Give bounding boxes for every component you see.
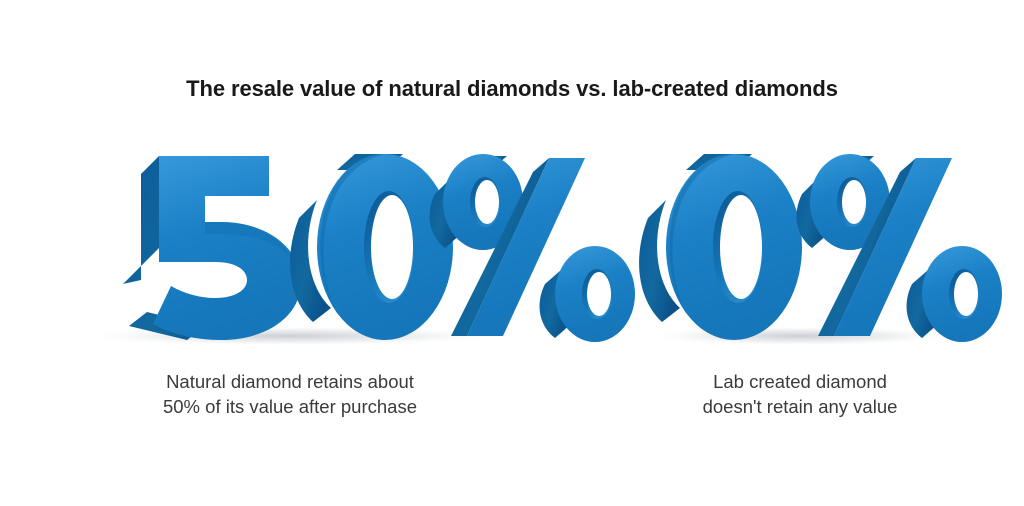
caption-natural-diamond: Natural diamond retains about 50% of its… (40, 369, 540, 419)
value-graphic-50-percent (55, 140, 525, 355)
glyph-zero (639, 154, 802, 340)
caption-line: Natural diamond retains about (40, 369, 540, 394)
glyph-zero (290, 154, 453, 340)
caption-line: Lab created diamond (620, 369, 980, 394)
caption-lab-created-diamond: Lab created diamond doesn't retain any v… (620, 369, 980, 419)
panel-lab-created-diamond: Lab created diamond doesn't retain any v… (620, 140, 980, 419)
ground-shadow (75, 326, 505, 346)
glyph-percent (430, 154, 635, 342)
caption-line: doesn't retain any value (620, 394, 980, 419)
value-graphic-0-percent (630, 140, 970, 355)
figure-0-percent (620, 140, 980, 355)
ground-shadow (645, 326, 955, 346)
figure-50-percent (40, 140, 540, 355)
glyph-five (123, 156, 301, 340)
glyph-percent (797, 154, 1002, 342)
caption-line: 50% of its value after purchase (40, 394, 540, 419)
infographic-root: The resale value of natural diamonds vs.… (0, 0, 1024, 506)
panel-natural-diamond: Natural diamond retains about 50% of its… (40, 140, 540, 419)
page-title: The resale value of natural diamonds vs.… (0, 76, 1024, 102)
